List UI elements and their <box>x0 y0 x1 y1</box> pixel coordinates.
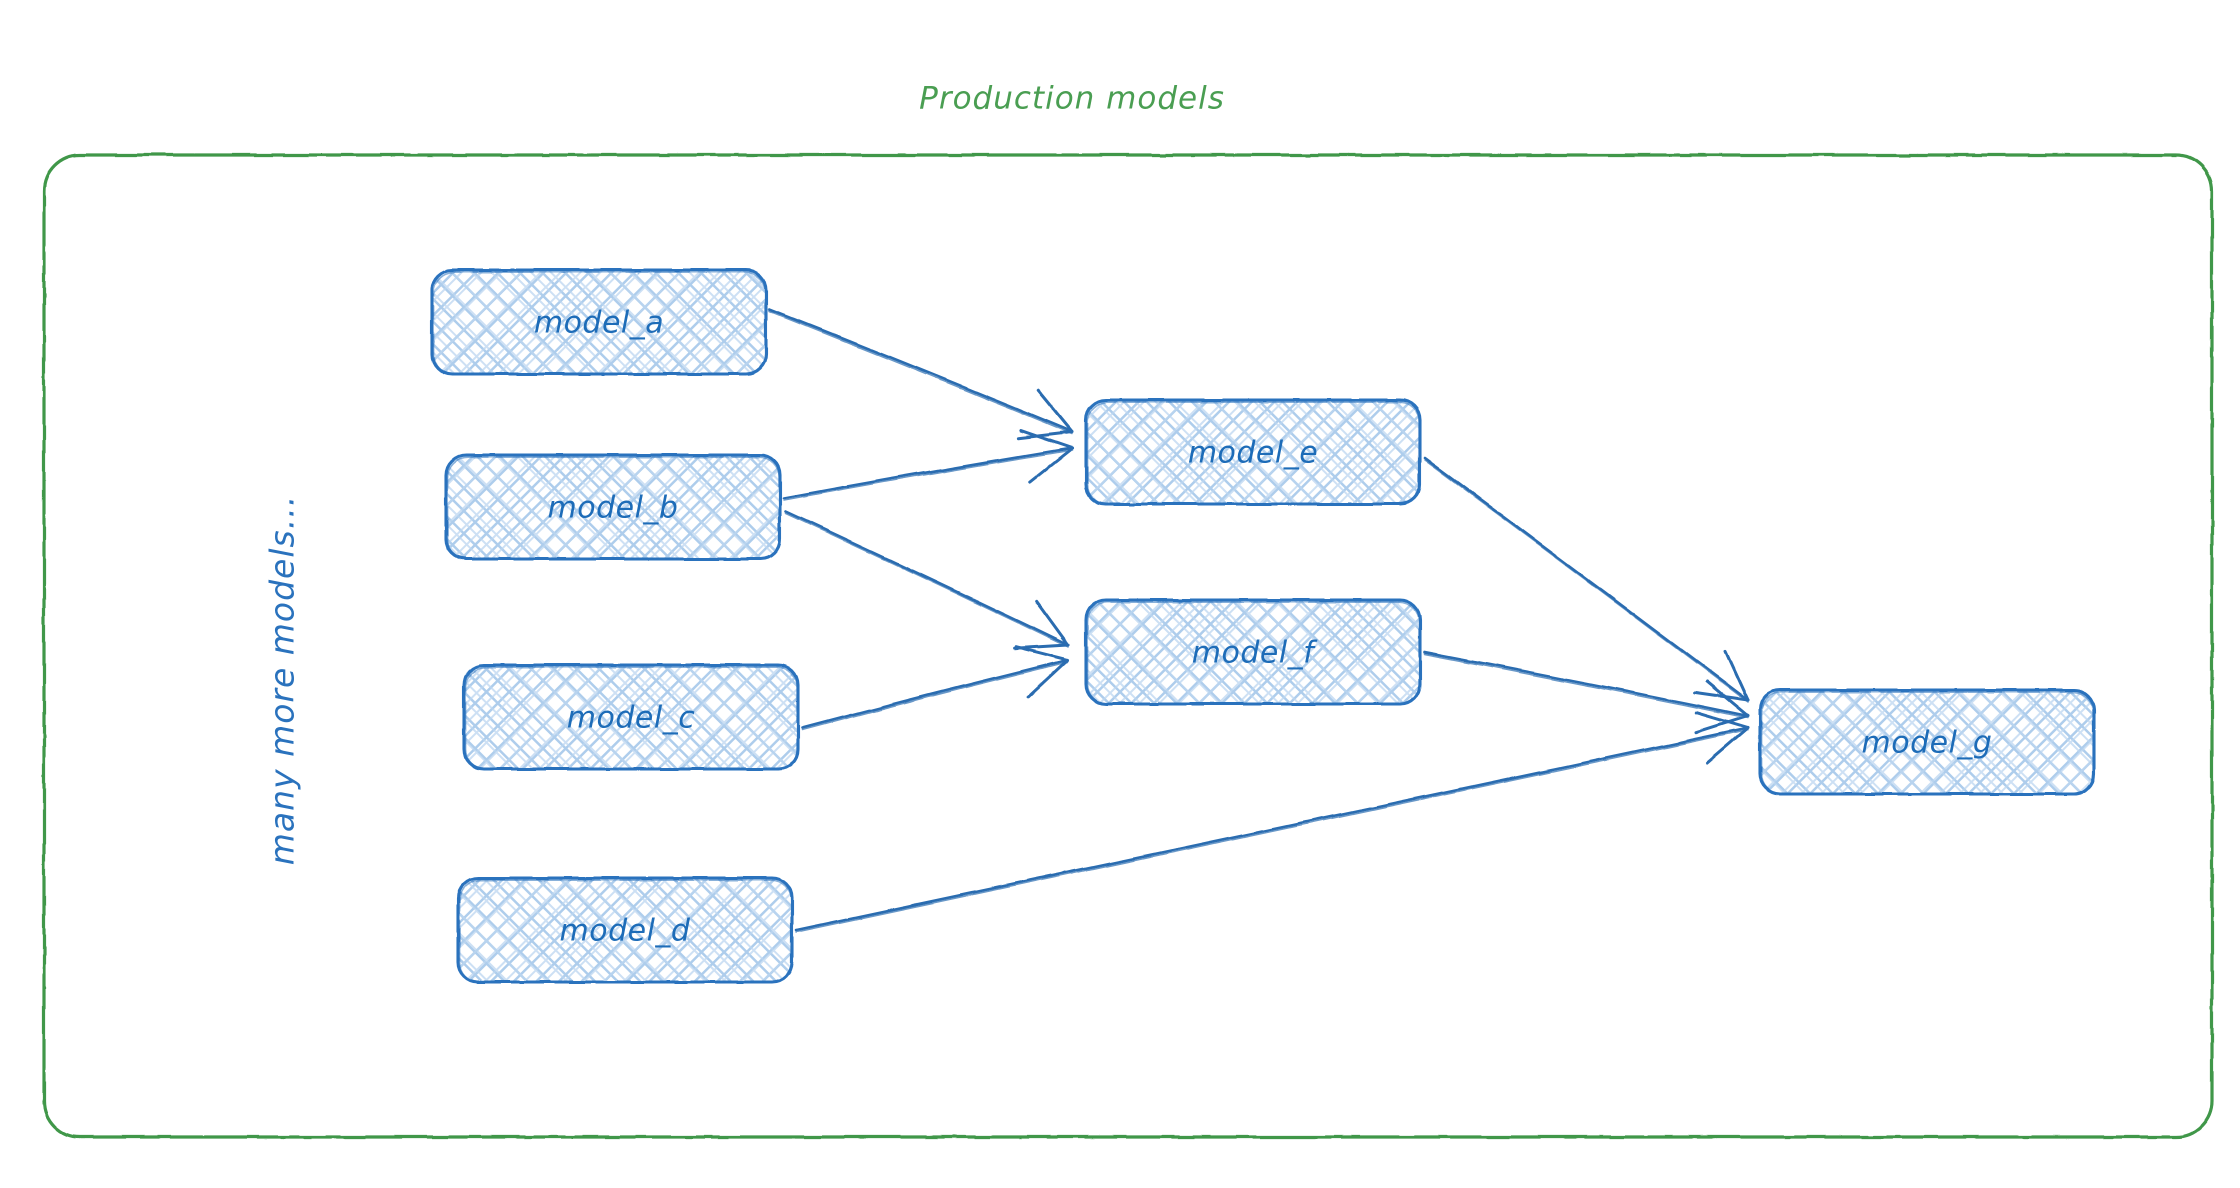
edge-model_b-to-model_e <box>784 431 1072 500</box>
edge-model_a-to-model_e <box>770 310 1072 438</box>
node-model_f[interactable]: model_f <box>1086 600 1420 704</box>
node-label: model_a <box>534 306 664 341</box>
nodes-layer: model_amodel_bmodel_cmodel_dmodel_emodel… <box>432 270 2094 982</box>
node-label: model_g <box>1862 726 1993 761</box>
node-label: model_f <box>1192 636 1318 671</box>
edge-model_c-to-model_f <box>802 647 1068 730</box>
node-model_c[interactable]: model_c <box>464 665 798 769</box>
node-model_b[interactable]: model_b <box>446 455 780 559</box>
edge-model_b-to-model_f <box>786 512 1068 648</box>
group-title: Production models <box>919 81 1225 117</box>
edge-line <box>802 660 1068 728</box>
edge-line <box>770 310 1072 432</box>
edge-line <box>1424 652 1748 716</box>
node-model_a[interactable]: model_a <box>432 270 766 374</box>
edge-line <box>796 728 1748 930</box>
diagram-svg: Production models many more models... mo… <box>0 0 2240 1188</box>
edge-model_d-to-model_g <box>796 713 1748 932</box>
node-label: model_d <box>560 914 691 949</box>
node-model_d[interactable]: model_d <box>458 878 792 982</box>
edge-line <box>770 312 1072 434</box>
node-model_e[interactable]: model_e <box>1086 400 1420 504</box>
edge-line <box>786 512 1068 645</box>
node-label: model_b <box>548 491 679 526</box>
edge-line <box>1424 460 1748 702</box>
edge-model_e-to-model_g <box>1424 458 1748 702</box>
edge-line <box>796 730 1748 932</box>
node-label: model_e <box>1188 436 1318 471</box>
edge-line <box>784 450 1072 500</box>
side-note-group: many more models... <box>263 495 302 865</box>
side-note-text: many more models... <box>263 495 302 865</box>
edge-line <box>784 448 1072 498</box>
arrow-head-stroke <box>1016 647 1068 660</box>
node-model_g[interactable]: model_g <box>1760 690 2094 794</box>
edge-line <box>786 514 1068 647</box>
node-label: model_c <box>567 701 695 736</box>
diagram-canvas: Production models many more models... mo… <box>0 0 2240 1188</box>
